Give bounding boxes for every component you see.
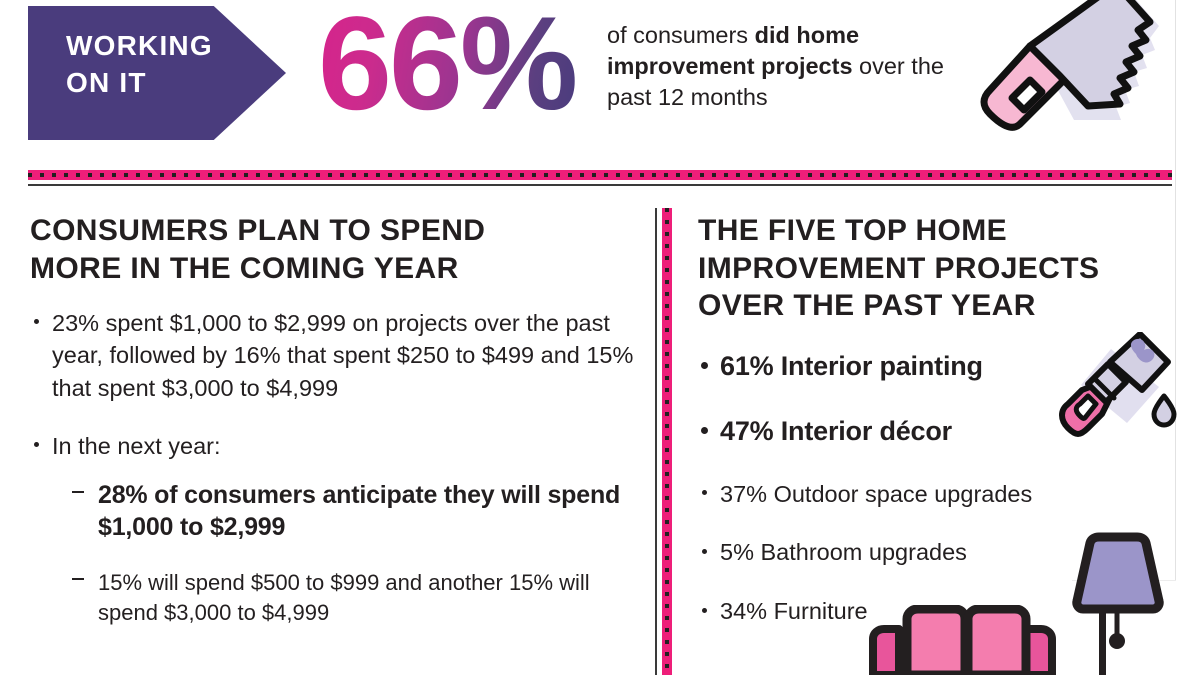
paintbrush-icon [1058, 332, 1178, 437]
bullet-dot-icon [34, 319, 39, 324]
left-heading-line-1: Consumers Plan to Spend [30, 212, 640, 250]
divider-dash-pattern [665, 208, 669, 675]
list-item: In the next year: [30, 430, 640, 462]
divider-dash-pattern [28, 173, 1172, 177]
headline-copy: of consumers did home improvement projec… [607, 20, 987, 113]
list-item: 23% spent $1,000 to $2,999 on projects o… [30, 307, 640, 404]
dash-bullet-icon [72, 578, 84, 580]
sub-list-item-label: 15% will spend $500 to $999 and another … [98, 570, 590, 625]
vertical-divider-rule [655, 208, 657, 675]
list-item-label: 37% Outdoor space upgrades [720, 481, 1032, 507]
headline-stat: 66% [318, 0, 575, 131]
horizontal-divider [28, 170, 1172, 180]
bullet-dot-icon [702, 490, 707, 495]
infographic-page: Working On It 66% of consumers did home … [0, 0, 1200, 675]
bullet-dot-icon [702, 549, 707, 554]
right-column-heading: The Five Top Home Improvement Projects O… [698, 212, 1176, 325]
list-item-label: 23% spent $1,000 to $2,999 on projects o… [52, 310, 633, 401]
left-column-heading: Consumers Plan to Spend More in the Comi… [30, 212, 640, 287]
bullet-dot-icon [701, 362, 708, 369]
sub-list-item: 15% will spend $500 to $999 and another … [70, 568, 640, 628]
bullet-dot-icon [702, 608, 707, 613]
list-item-label: In the next year: [52, 433, 221, 459]
right-heading-line-2: Improvement Projects [698, 250, 1176, 288]
sub-list-item-label: 28% of consumers anticipate they will sp… [98, 481, 620, 542]
right-heading-line-3: Over the Past Year [698, 287, 1176, 325]
banner-line-1: Working [66, 28, 213, 65]
list-item-label: 34% Furniture [720, 598, 868, 624]
bullet-dot-icon [701, 427, 708, 434]
left-column: Consumers Plan to Spend More in the Comi… [30, 212, 640, 628]
left-heading-line-2: More in the Coming Year [30, 250, 640, 288]
headline-copy-pre: of consumers [607, 22, 755, 48]
dash-bullet-icon [72, 491, 84, 493]
sofa-icon [855, 605, 1070, 675]
horizontal-divider-rule [28, 184, 1172, 186]
sub-list-item: 28% of consumers anticipate they will sp… [70, 479, 640, 544]
list-item-label: 61% Interior painting [720, 351, 983, 381]
right-heading-line-1: The Five Top Home [698, 212, 1176, 250]
handsaw-icon [965, 0, 1180, 154]
list-item-label: 47% Interior décor [720, 416, 952, 446]
list-item: 37% Outdoor space upgrades [698, 479, 1176, 510]
vertical-divider [662, 208, 672, 675]
bullet-dot-icon [34, 442, 39, 447]
list-item-label: 5% Bathroom upgrades [720, 539, 967, 565]
header-section: Working On It 66% of consumers did home … [0, 0, 1200, 160]
banner-line-2: On It [66, 65, 213, 102]
banner-label: Working On It [66, 28, 213, 102]
